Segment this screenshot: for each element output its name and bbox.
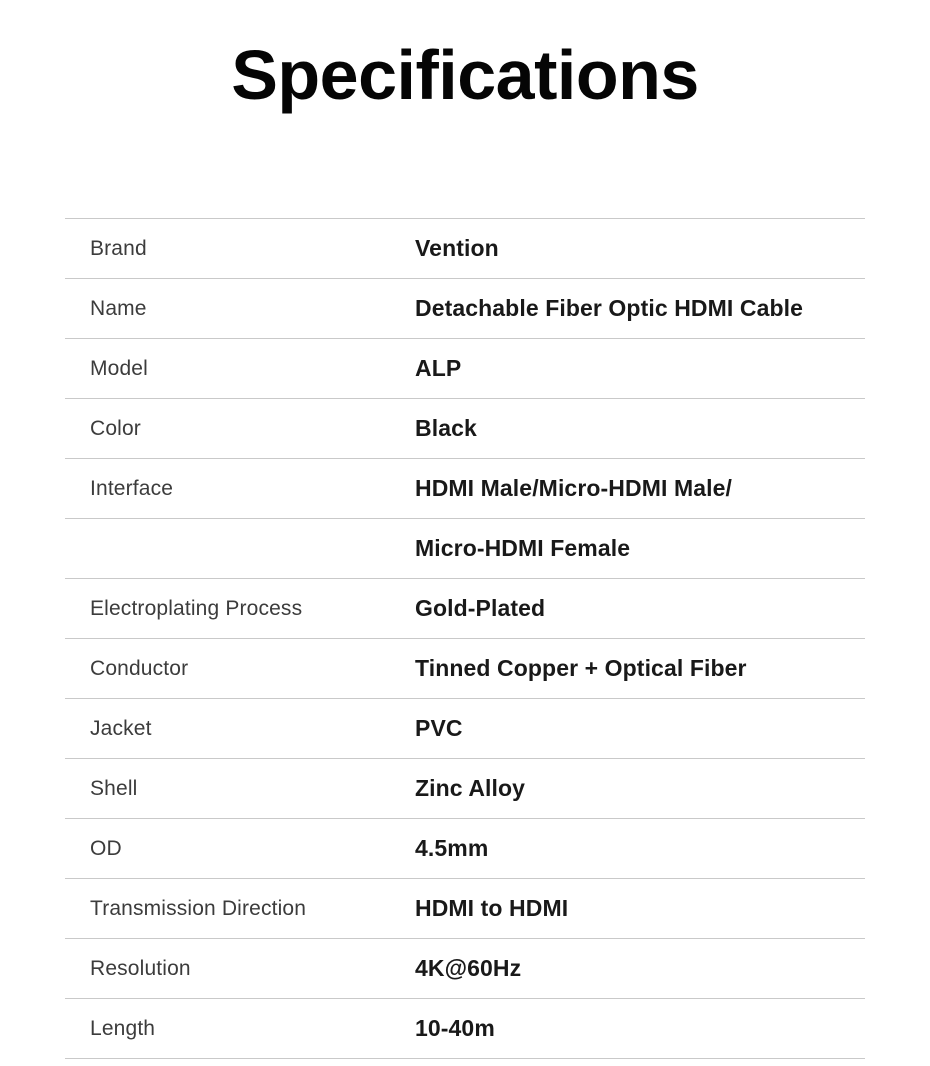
spec-label: Color (65, 399, 415, 459)
spec-value: Vention (415, 219, 865, 279)
spec-value: Tinned Copper + Optical Fiber (415, 639, 865, 699)
spec-value: Detachable Fiber Optic HDMI Cable (415, 279, 865, 339)
spec-value: Micro-HDMI Female (415, 519, 865, 579)
spec-label: OD (65, 819, 415, 879)
page-title-area: Specifications (0, 0, 930, 112)
spec-row: ConductorTinned Copper + Optical Fiber (65, 639, 865, 699)
spec-row: InterfaceHDMI Male/Micro-HDMI Male/ (65, 459, 865, 519)
spec-label: Name (65, 279, 415, 339)
spec-label: Shell (65, 759, 415, 819)
specifications-table-body: BrandVentionNameDetachable Fiber Optic H… (65, 219, 865, 1059)
spec-label: Brand (65, 219, 415, 279)
spec-row: NameDetachable Fiber Optic HDMI Cable (65, 279, 865, 339)
spec-value: PVC (415, 699, 865, 759)
spec-label (65, 519, 415, 579)
spec-row: Length10-40m (65, 999, 865, 1059)
spec-row: ColorBlack (65, 399, 865, 459)
spec-row: Transmission DirectionHDMI to HDMI (65, 879, 865, 939)
spec-label: Length (65, 999, 415, 1059)
specifications-page: Specifications BrandVentionNameDetachabl… (0, 0, 930, 1066)
spec-row: Micro-HDMI Female (65, 519, 865, 579)
spec-value: ALP (415, 339, 865, 399)
spec-value: 10-40m (415, 999, 865, 1059)
spec-label: Jacket (65, 699, 415, 759)
spec-label: Electroplating Process (65, 579, 415, 639)
spec-row: Electroplating ProcessGold-Plated (65, 579, 865, 639)
spec-value: HDMI Male/Micro-HDMI Male/ (415, 459, 865, 519)
spec-row: OD4.5mm (65, 819, 865, 879)
spec-row: JacketPVC (65, 699, 865, 759)
spec-value: HDMI to HDMI (415, 879, 865, 939)
page-title: Specifications (231, 38, 699, 112)
spec-row: Resolution4K@60Hz (65, 939, 865, 999)
spec-row: ShellZinc Alloy (65, 759, 865, 819)
spec-label: Model (65, 339, 415, 399)
spec-label: Interface (65, 459, 415, 519)
spec-row: BrandVention (65, 219, 865, 279)
spec-label: Resolution (65, 939, 415, 999)
spec-label: Transmission Direction (65, 879, 415, 939)
spec-label: Conductor (65, 639, 415, 699)
specifications-table: BrandVentionNameDetachable Fiber Optic H… (65, 218, 865, 1059)
spec-value: 4K@60Hz (415, 939, 865, 999)
spec-value: Gold-Plated (415, 579, 865, 639)
spec-row: ModelALP (65, 339, 865, 399)
spec-value: Black (415, 399, 865, 459)
spec-value: Zinc Alloy (415, 759, 865, 819)
spec-value: 4.5mm (415, 819, 865, 879)
